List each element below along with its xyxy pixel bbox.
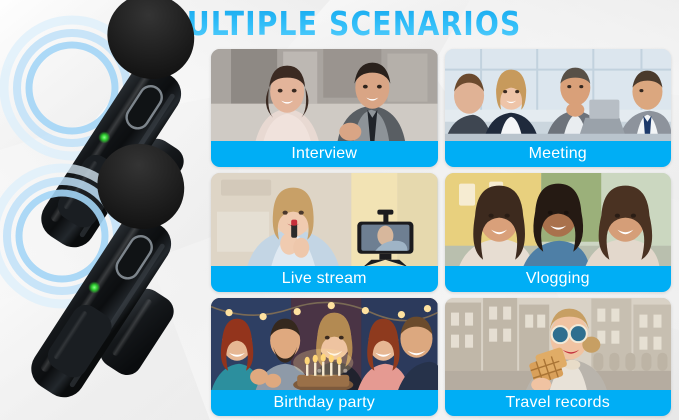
- scenario-label-live-stream: Live stream: [211, 266, 438, 292]
- scenario-tile-birthday-party[interactable]: Birthday party: [211, 298, 438, 416]
- scenario-tile-meeting[interactable]: Meeting: [445, 49, 672, 167]
- product-scenarios-poster: MULTIPLE SCENARIOS: [0, 0, 679, 420]
- scenario-photo-meeting: [445, 49, 672, 141]
- scenario-tile-live-stream[interactable]: Live stream: [211, 173, 438, 291]
- scenario-photo-travel-records: [445, 298, 672, 390]
- scenario-label-interview: Interview: [211, 141, 438, 167]
- scenario-photo-interview: [211, 49, 438, 141]
- scenario-photo-vlogging: [445, 173, 672, 265]
- buildings-left: [445, 298, 549, 371]
- scenario-tile-travel-records[interactable]: Travel records: [445, 298, 672, 416]
- scenario-label-travel-records: Travel records: [445, 390, 672, 416]
- microphone-unit-bottom: [0, 127, 210, 420]
- scenario-label-meeting: Meeting: [445, 141, 672, 167]
- scenario-label-birthday-party: Birthday party: [211, 390, 438, 416]
- scenario-label-vlogging: Vlogging: [445, 266, 672, 292]
- birthday-cake: [293, 348, 353, 390]
- scenario-photo-birthday-party: [211, 298, 438, 390]
- microphone-product-illustration: [0, 0, 210, 420]
- scenario-photo-live-stream: [211, 173, 438, 265]
- scenario-tile-vlogging[interactable]: Vlogging: [445, 173, 672, 291]
- scenario-tile-interview[interactable]: Interview: [211, 49, 438, 167]
- scenario-grid: Interview: [211, 49, 671, 416]
